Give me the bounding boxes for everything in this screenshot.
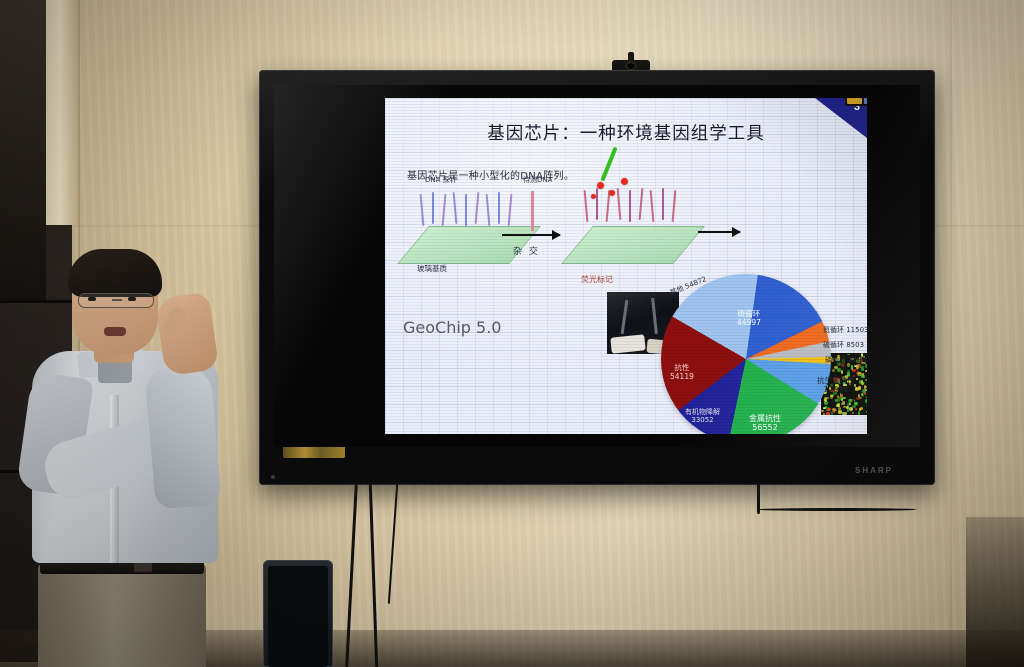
- dna-probe: [498, 192, 500, 224]
- array-spot: [865, 379, 867, 381]
- array-spot: [859, 408, 861, 411]
- array-spot: [862, 390, 866, 393]
- array-spot: [865, 399, 867, 403]
- array-spot: [865, 386, 867, 389]
- probe-label: DNA 探针: [425, 175, 457, 185]
- array-spot: [842, 401, 846, 405]
- mouth: [104, 327, 126, 336]
- array-spot: [835, 410, 837, 412]
- dna-probe: [596, 188, 598, 220]
- array-spot: [849, 403, 851, 406]
- glasses-bridge: [112, 299, 122, 301]
- dna-probe: [662, 188, 664, 220]
- result-arrow: [698, 231, 740, 233]
- fluorescent-dot: [591, 194, 596, 199]
- wall-column: [46, 0, 78, 225]
- photo-scene: SHARP 基因芯片：一种环境基因组学工具 基因芯片是一种小型化的DNA阵列。 …: [0, 0, 1024, 667]
- array-spot: [857, 371, 859, 375]
- hair: [68, 249, 162, 297]
- pie-label-nitrogen: 氮循环 11503: [823, 326, 867, 334]
- fluorescent-dot: [609, 190, 615, 196]
- tv-brand-label: SHARP: [855, 466, 893, 475]
- array-spot: [865, 366, 867, 368]
- array-spot: [866, 396, 867, 399]
- wall-seam: [950, 0, 952, 667]
- array-spot: [856, 366, 859, 369]
- array-spot: [841, 403, 843, 405]
- array-spot: [849, 399, 852, 402]
- eye: [128, 297, 136, 301]
- array-spot: [847, 354, 851, 356]
- webcam-icon: [612, 52, 650, 72]
- array-spot: [861, 393, 863, 396]
- pie-label-antibiotic: 抗生素抗性22934: [817, 377, 855, 394]
- array-spot: [865, 370, 867, 372]
- hybridization-label: 杂 交: [513, 244, 540, 257]
- trousers: [38, 563, 206, 667]
- eye: [88, 297, 96, 301]
- pie-label-carbon: 碳循环44997: [737, 310, 761, 327]
- pie-label-resistance: 抗性54119: [670, 364, 694, 381]
- fluorescent-dot: [621, 178, 628, 185]
- array-spot: [858, 411, 860, 415]
- array-spot: [832, 408, 836, 411]
- array-spot: [854, 402, 857, 405]
- geochip-label: GeoChip 5.0: [403, 318, 501, 337]
- pie-label-organic: 有机物降解33052: [685, 408, 720, 424]
- fluorescent-dot: [597, 182, 604, 189]
- presenter: [10, 245, 290, 667]
- dna-probe: [629, 190, 631, 222]
- array-spot: [861, 366, 863, 370]
- toolbar-icon-0[interactable]: [847, 98, 862, 104]
- sample-strand: [531, 191, 534, 231]
- array-spot: [832, 369, 834, 372]
- pie-label-phosphorus: 磷循环 3783: [825, 356, 866, 364]
- array-spot: [852, 412, 854, 414]
- array-spot: [866, 404, 867, 406]
- television: SHARP 基因芯片：一种环境基因组学工具 基因芯片是一种小型化的DNA阵列。 …: [259, 70, 935, 485]
- slide-title: 基因芯片：一种环境基因组学工具: [385, 120, 867, 145]
- presentation-slide: 基因芯片：一种环境基因组学工具 基因芯片是一种小型化的DNA阵列。 3 DNA …: [385, 98, 867, 434]
- array-spot: [861, 375, 864, 379]
- pie-label-sulfur: 硫循环 8503: [823, 341, 864, 349]
- toolbar-icon-1[interactable]: [864, 98, 867, 104]
- dna-probe: [465, 194, 467, 226]
- cable: [757, 508, 917, 511]
- array-spot: [837, 403, 839, 406]
- array-spot: [855, 408, 857, 410]
- array-spot: [842, 412, 846, 414]
- hybridization-arrow: [502, 234, 560, 236]
- array-spot: [838, 410, 841, 414]
- array-spot: [849, 407, 853, 411]
- array-spot: [856, 378, 858, 380]
- presenter-toolbar[interactable]: [845, 98, 867, 106]
- array-spot: [841, 370, 843, 374]
- substrate-label: 玻璃基质: [417, 263, 447, 274]
- array-spot: [856, 397, 860, 401]
- tv-screen: 基因芯片：一种环境基因组学工具 基因芯片是一种小型化的DNA阵列。 3 DNA …: [274, 85, 920, 447]
- fluorescence-label: 荧光标记: [581, 274, 613, 285]
- dna-probe: [432, 192, 434, 224]
- sample-dna-label: 待测DNA: [523, 175, 552, 185]
- pie-label-metal: 金属抗性56552: [749, 414, 781, 432]
- right-arm: [144, 364, 222, 509]
